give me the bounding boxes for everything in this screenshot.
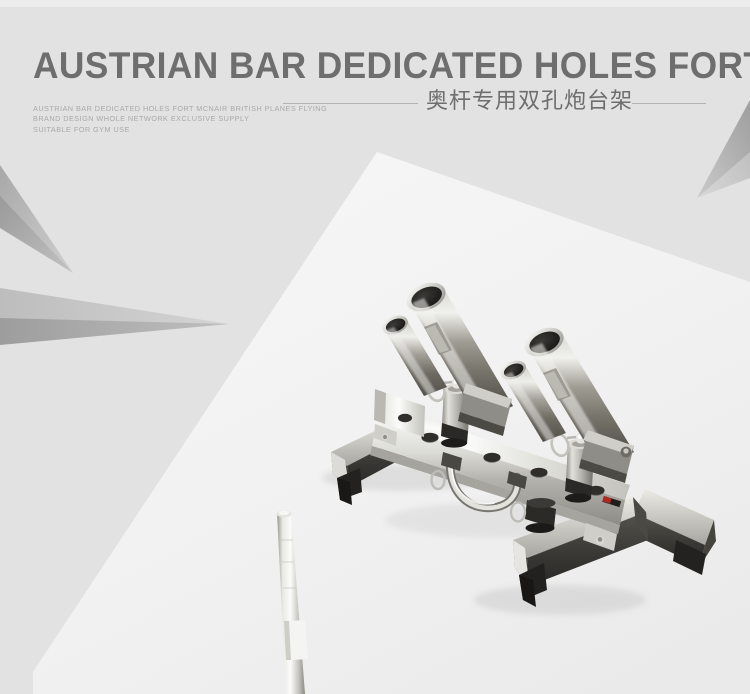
subtitle-line-2: BRAND DESIGN WHOLE NETWORK EXCLUSIVE SUP… [33, 114, 327, 124]
subtitle-line-1: AUSTRIAN BAR DEDICATED HOLES FORT MCNAIR… [33, 104, 327, 114]
barbell-pole [277, 511, 308, 694]
page-title: AUSTRIAN BAR DEDICATED HOLES FORT FRAME [33, 44, 750, 88]
banner-header: AUSTRIAN BAR DEDICATED HOLES FORT FRAME … [0, 0, 750, 145]
subtitle-block: AUSTRIAN BAR DEDICATED HOLES FORT MCNAIR… [33, 104, 327, 135]
divider-right [632, 103, 706, 104]
page-title-chinese: 奥杆专用双孔炮台架 [426, 89, 633, 115]
subtitle-line-3: SUITABLE FOR GYM USE [33, 125, 327, 135]
product-banner: AUSTRIAN BAR DEDICATED HOLES FORT FRAME … [0, 0, 750, 694]
